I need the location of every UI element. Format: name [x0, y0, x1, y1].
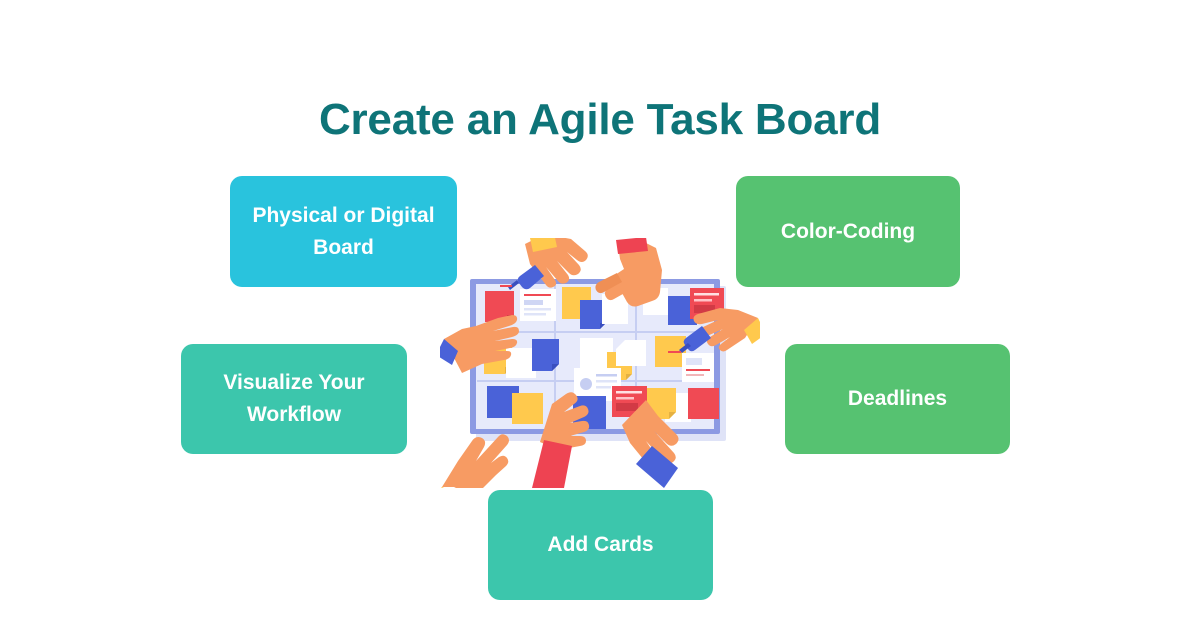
label-box-text: Color-Coding: [781, 216, 915, 248]
task-card-white: [682, 353, 714, 382]
sticky-note-red: [688, 388, 719, 419]
task-card-white: [520, 289, 556, 321]
label-box-physical-or-digital-board[interactable]: Physical or Digital Board: [230, 176, 457, 287]
sticky-note-blue: [532, 339, 559, 371]
hand-bottom-left-point: [440, 434, 509, 488]
agile-task-board-illustration: [440, 238, 760, 488]
label-box-text: Add Cards: [547, 529, 653, 561]
label-box-text: Deadlines: [848, 383, 947, 415]
label-box-text: Physical or Digital Board: [244, 200, 443, 264]
label-box-text: Visualize Your Workflow: [195, 367, 393, 431]
infographic-canvas: Create an Agile Task Board Physical or D…: [0, 0, 1200, 630]
label-box-add-cards[interactable]: Add Cards: [488, 490, 713, 600]
sticky-note-white: [602, 294, 628, 324]
page-title: Create an Agile Task Board: [0, 91, 1200, 149]
label-box-visualize-your-workflow[interactable]: Visualize Your Workflow: [181, 344, 407, 454]
label-box-color-coding[interactable]: Color-Coding: [736, 176, 960, 287]
sticky-note-yellow: [512, 393, 543, 424]
label-box-deadlines[interactable]: Deadlines: [785, 344, 1010, 454]
